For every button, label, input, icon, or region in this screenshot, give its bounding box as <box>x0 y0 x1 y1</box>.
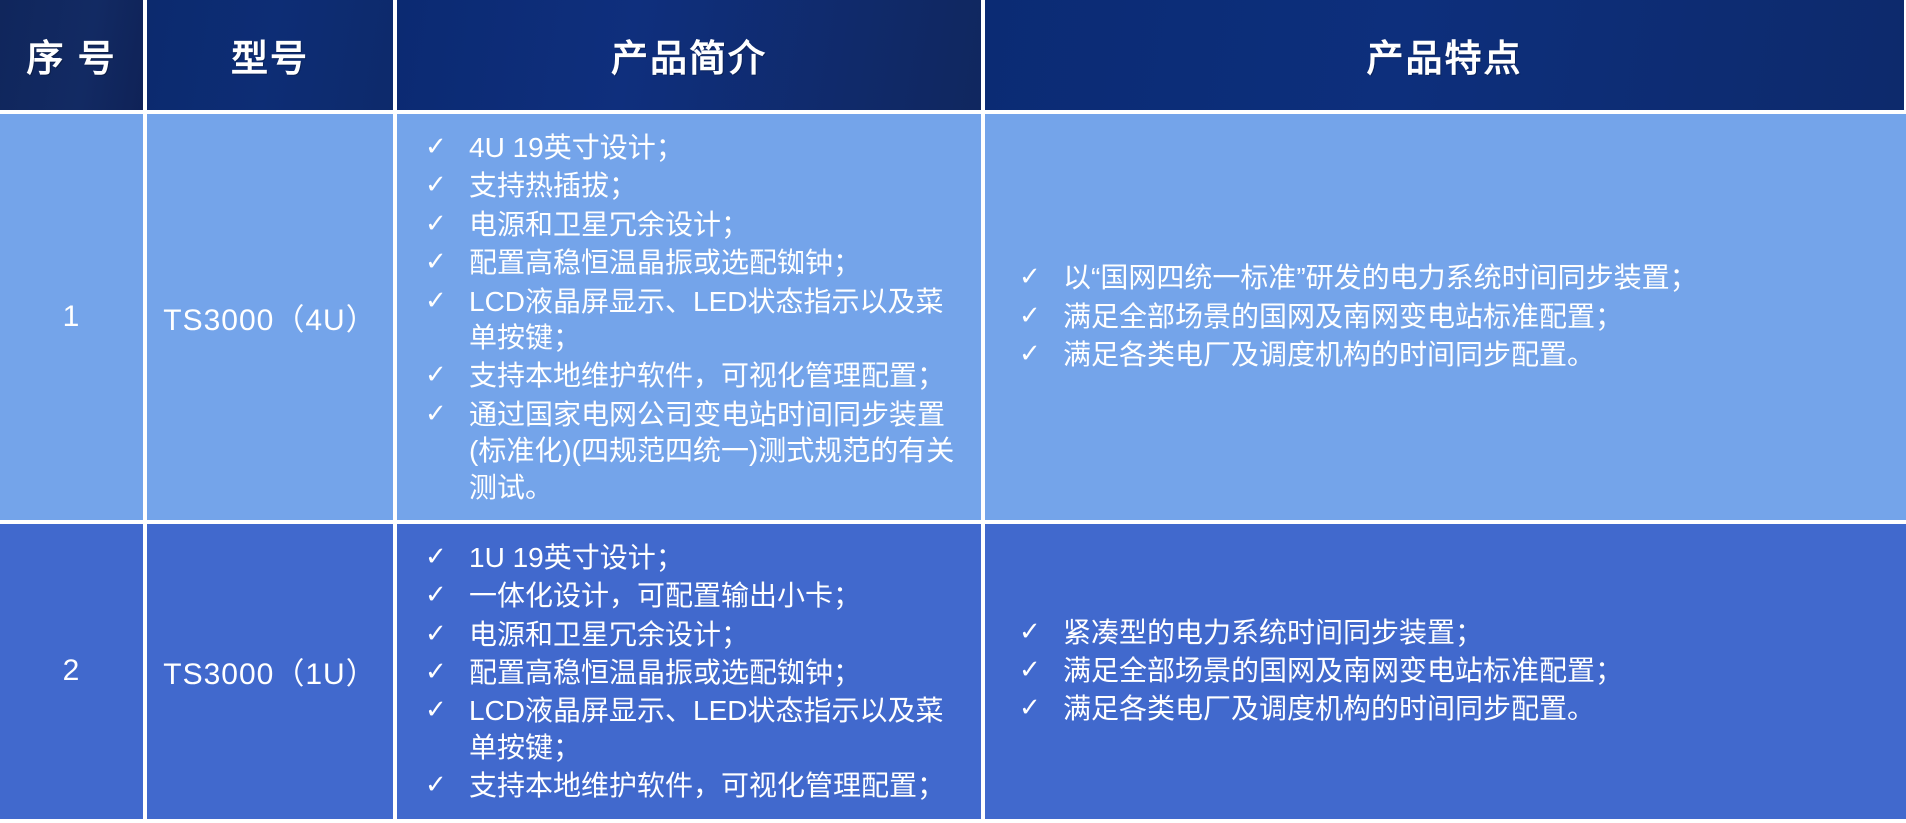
check-icon: ✓ <box>425 168 459 202</box>
check-icon: ✓ <box>1019 260 1053 294</box>
list-item-label: 满足全部场景的国网及南网变电站标准配置； <box>1063 653 1896 689</box>
check-icon: ✓ <box>1019 653 1053 687</box>
table-row: 1 TS3000（4U） ✓ 4U 19英寸设计； ✓ 支持热插拔； ✓ 电源和… <box>0 112 1906 522</box>
check-icon: ✓ <box>425 358 459 392</box>
list-item: ✓ 配置高稳恒温晶振或选配铷钟； <box>425 245 971 281</box>
cell-features-1: ✓ 以“国网四统一标准”研发的电力系统时间同步装置； ✓ 满足全部场景的国网及南… <box>983 112 1906 522</box>
list-item: ✓ 通过国家电网公司变电站时间同步装置(标准化)(四规范四统一)测式规范的有关测… <box>425 397 971 506</box>
list-item-label: 1U 19英寸设计； <box>469 540 971 576</box>
check-icon: ✓ <box>425 655 459 689</box>
list-item: ✓ 电源和卫星冗余设计； <box>425 207 971 243</box>
list-item: ✓ 满足全部场景的国网及南网变电站标准配置； <box>1019 299 1896 335</box>
list-item-label: 支持本地维护软件，可视化管理配置； <box>469 358 971 394</box>
table-header: 序 号 型号 产品简介 产品特点 <box>0 0 1906 112</box>
list-item: ✓ 满足各类电厂及调度机构的时间同步配置。 <box>1019 691 1896 727</box>
list-item: ✓ LCD液晶屏显示、LED状态指示以及菜单按键； <box>425 693 971 766</box>
list-item: ✓ 支持本地维护软件，可视化管理配置； <box>425 768 971 804</box>
column-header-description: 产品简介 <box>395 0 983 112</box>
list-item: ✓ 以“国网四统一标准”研发的电力系统时间同步装置； <box>1019 260 1896 296</box>
check-icon: ✓ <box>425 397 459 431</box>
cell-model-1: TS3000（4U） <box>145 112 395 522</box>
cell-sequence-1: 1 <box>0 112 145 522</box>
list-item: ✓ 一体化设计，可配置输出小卡； <box>425 578 971 614</box>
check-icon: ✓ <box>425 130 459 164</box>
cell-features-2: ✓ 紧凑型的电力系统时间同步装置； ✓ 满足全部场景的国网及南网变电站标准配置；… <box>983 522 1906 821</box>
list-item-label: 配置高稳恒温晶振或选配铷钟； <box>469 655 971 691</box>
list-item: ✓ 支持本地维护软件，可视化管理配置； <box>425 358 971 394</box>
check-icon: ✓ <box>425 578 459 612</box>
check-icon: ✓ <box>1019 337 1053 371</box>
check-icon: ✓ <box>1019 615 1053 649</box>
list-item-label: 配置高稳恒温晶振或选配铷钟； <box>469 245 971 281</box>
description-bullet-list-2: ✓ 1U 19英寸设计； ✓ 一体化设计，可配置输出小卡； ✓ 电源和卫星冗余设… <box>397 524 981 819</box>
list-item-label: 紧凑型的电力系统时间同步装置； <box>1063 615 1896 651</box>
list-item-label: LCD液晶屏显示、LED状态指示以及菜单按键； <box>469 693 971 766</box>
check-icon: ✓ <box>425 693 459 727</box>
list-item-label: 以“国网四统一标准”研发的电力系统时间同步装置； <box>1063 260 1896 296</box>
check-icon: ✓ <box>425 245 459 279</box>
column-header-sequence: 序 号 <box>0 0 145 112</box>
cell-description-1: ✓ 4U 19英寸设计； ✓ 支持热插拔； ✓ 电源和卫星冗余设计； ✓ 配置高… <box>395 112 983 522</box>
table-row: 2 TS3000（1U） ✓ 1U 19英寸设计； ✓ 一体化设计，可配置输出小… <box>0 522 1906 821</box>
list-item: ✓ 满足各类电厂及调度机构的时间同步配置。 <box>1019 337 1896 373</box>
list-item-label: 4U 19英寸设计； <box>469 130 971 166</box>
cell-model-2: TS3000（1U） <box>145 522 395 821</box>
list-item-label: 满足各类电厂及调度机构的时间同步配置。 <box>1063 337 1896 373</box>
list-item-label: 支持热插拔； <box>469 168 971 204</box>
list-item: ✓ LCD液晶屏显示、LED状态指示以及菜单按键； <box>425 284 971 357</box>
check-icon: ✓ <box>425 540 459 574</box>
table-body: 1 TS3000（4U） ✓ 4U 19英寸设计； ✓ 支持热插拔； ✓ 电源和… <box>0 112 1906 821</box>
check-icon: ✓ <box>1019 299 1053 333</box>
list-item: ✓ 电源和卫星冗余设计； <box>425 617 971 653</box>
description-bullet-list-1: ✓ 4U 19英寸设计； ✓ 支持热插拔； ✓ 电源和卫星冗余设计； ✓ 配置高… <box>397 114 981 520</box>
column-header-features: 产品特点 <box>983 0 1906 112</box>
list-item: ✓ 配置高稳恒温晶振或选配铷钟； <box>425 655 971 691</box>
features-bullet-list-1: ✓ 以“国网四统一标准”研发的电力系统时间同步装置； ✓ 满足全部场景的国网及南… <box>985 246 1906 387</box>
header-row: 序 号 型号 产品简介 产品特点 <box>0 0 1906 112</box>
check-icon: ✓ <box>425 768 459 802</box>
cell-sequence-2: 2 <box>0 522 145 821</box>
features-bullet-list-2: ✓ 紧凑型的电力系统时间同步装置； ✓ 满足全部场景的国网及南网变电站标准配置；… <box>985 601 1906 742</box>
check-icon: ✓ <box>425 207 459 241</box>
check-icon: ✓ <box>425 284 459 318</box>
list-item-label: 通过国家电网公司变电站时间同步装置(标准化)(四规范四统一)测式规范的有关测试。 <box>469 397 971 506</box>
list-item: ✓ 满足全部场景的国网及南网变电站标准配置； <box>1019 653 1896 689</box>
check-icon: ✓ <box>425 617 459 651</box>
list-item: ✓ 4U 19英寸设计； <box>425 130 971 166</box>
list-item-label: 满足全部场景的国网及南网变电站标准配置； <box>1063 299 1896 335</box>
list-item: ✓ 1U 19英寸设计； <box>425 540 971 576</box>
list-item-label: LCD液晶屏显示、LED状态指示以及菜单按键； <box>469 284 971 357</box>
cell-description-2: ✓ 1U 19英寸设计； ✓ 一体化设计，可配置输出小卡； ✓ 电源和卫星冗余设… <box>395 522 983 821</box>
column-header-model: 型号 <box>145 0 395 112</box>
product-comparison-table: 序 号 型号 产品简介 产品特点 1 TS3000（4U） ✓ 4U 19英寸设… <box>0 0 1906 823</box>
check-icon: ✓ <box>1019 691 1053 725</box>
list-item-label: 电源和卫星冗余设计； <box>469 207 971 243</box>
list-item: ✓ 支持热插拔； <box>425 168 971 204</box>
list-item: ✓ 紧凑型的电力系统时间同步装置； <box>1019 615 1896 651</box>
list-item-label: 满足各类电厂及调度机构的时间同步配置。 <box>1063 691 1896 727</box>
list-item-label: 支持本地维护软件，可视化管理配置； <box>469 768 971 804</box>
list-item-label: 一体化设计，可配置输出小卡； <box>469 578 971 614</box>
list-item-label: 电源和卫星冗余设计； <box>469 617 971 653</box>
